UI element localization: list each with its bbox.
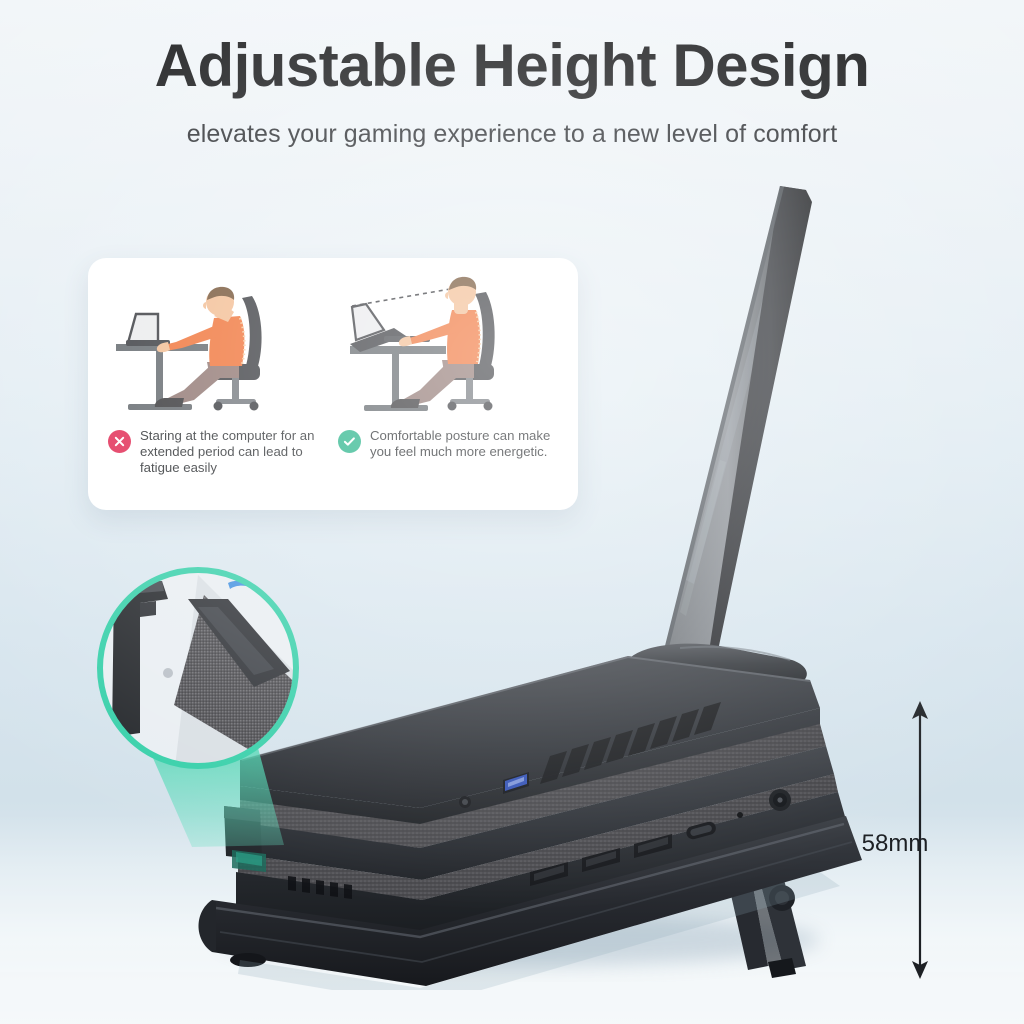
laptop-screen	[660, 186, 812, 676]
page-title: Adjustable Height Design	[0, 34, 1024, 97]
page-subtitle: elevates your gaming experience to a new…	[0, 120, 1024, 149]
product-marketing-image: Adjustable Height Design elevates your g…	[0, 0, 1024, 1024]
dc-power-jack	[769, 789, 791, 811]
dimension-label: 58mm	[855, 830, 935, 858]
indicator-pinhole	[737, 812, 743, 818]
zoom-callout	[78, 555, 408, 855]
